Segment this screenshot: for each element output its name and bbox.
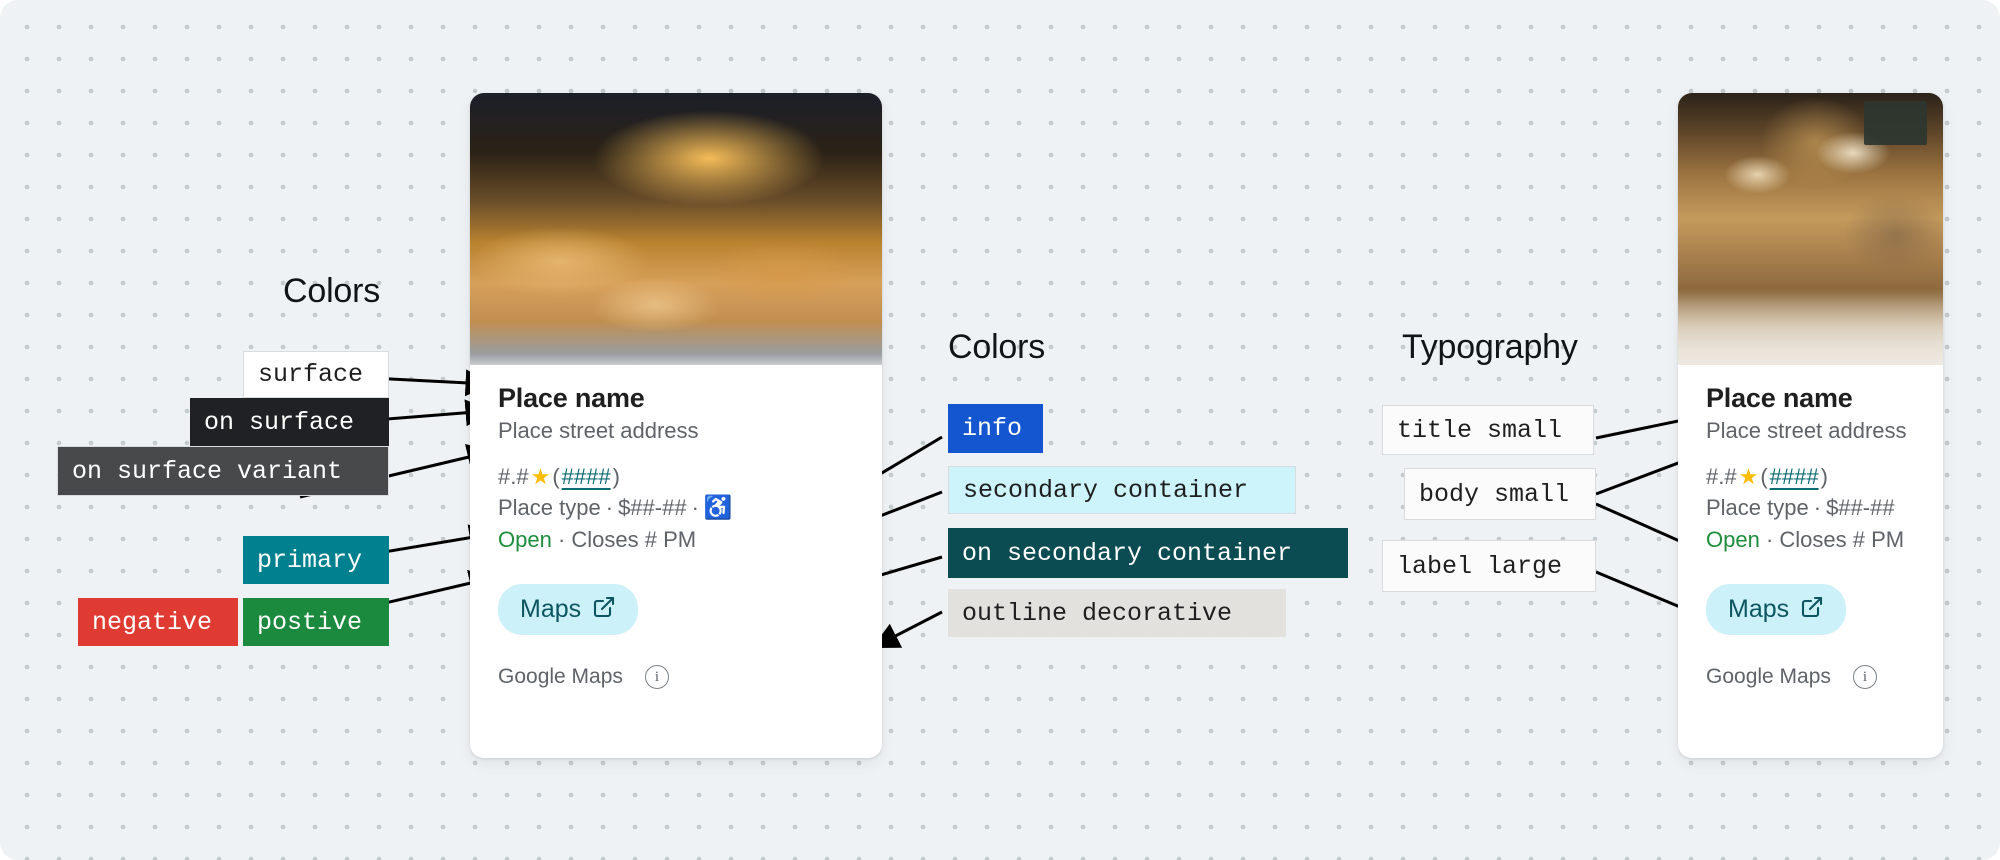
- closing-time-label: Closes # PM: [1779, 527, 1904, 552]
- meta-separator-1: ·: [1814, 493, 1821, 524]
- color-chip-label: negative: [92, 610, 212, 635]
- place-card-primary[interactable]: Place name Place street address #.# ★ ( …: [470, 93, 882, 758]
- reviews-open-paren: (: [552, 462, 559, 493]
- maps-button[interactable]: Maps: [1706, 584, 1846, 635]
- place-hours-row: Open · Closes # PM: [498, 525, 854, 556]
- place-card-body: Place name Place street address #.# ★ ( …: [470, 365, 882, 635]
- color-chip-positive[interactable]: postive: [243, 598, 389, 646]
- color-chip-outline-decorative[interactable]: outline decorative: [948, 589, 1286, 637]
- reviews-close-paren: ): [613, 462, 620, 493]
- price-range: $##-##: [1826, 493, 1895, 524]
- reviews-close-paren: ): [1821, 462, 1828, 493]
- place-name: Place name: [498, 383, 854, 414]
- star-icon: ★: [531, 466, 551, 488]
- color-chip-label: secondary container: [963, 478, 1248, 503]
- reviews-count-link[interactable]: ####: [1770, 462, 1819, 493]
- place-type: Place type: [1706, 493, 1809, 524]
- open-in-new-icon: [592, 595, 616, 624]
- arrow-outline-decorative: [876, 612, 942, 646]
- color-chip-primary[interactable]: primary: [243, 536, 389, 584]
- color-chip-on-surface[interactable]: on surface: [190, 398, 389, 446]
- maps-button[interactable]: Maps: [498, 584, 638, 635]
- color-chip-label: outline decorative: [962, 601, 1232, 626]
- google-maps-attribution: Google Maps: [498, 665, 623, 689]
- color-chip-label: info: [962, 416, 1022, 441]
- color-chip-surface[interactable]: surface: [243, 351, 389, 398]
- section-title-colors-mid: Colors: [948, 328, 1045, 367]
- type-chip-body-small[interactable]: body small: [1404, 468, 1596, 520]
- design-spec-canvas: Colors surface on surface on surface var…: [0, 0, 2000, 860]
- hours-separator: ·: [558, 527, 565, 552]
- place-card-typography[interactable]: Place name Place street address #.# ★ ( …: [1678, 93, 1943, 758]
- star-icon: ★: [1739, 466, 1759, 488]
- color-chip-negative[interactable]: negative: [78, 598, 238, 646]
- place-card-footer: Google Maps i: [470, 635, 882, 711]
- place-hours-row: Open · Closes # PM: [1706, 525, 1915, 556]
- price-range: $##-##: [618, 493, 687, 524]
- place-meta-row: Place type · $##-## · ♿: [498, 493, 854, 524]
- rating-value: #.#: [498, 462, 529, 493]
- open-status-label: Open: [498, 527, 552, 552]
- wheelchair-icon: ♿: [704, 496, 733, 519]
- maps-button-label: Maps: [1728, 597, 1789, 622]
- rating-value: #.#: [1706, 462, 1737, 493]
- color-chip-label: on secondary container: [962, 541, 1292, 566]
- place-meta-row: Place type · $##-##: [1706, 493, 1915, 524]
- meta-separator-2: ·: [692, 493, 699, 524]
- section-title-colors-left: Colors: [283, 272, 380, 311]
- color-chip-secondary-container[interactable]: secondary container: [948, 466, 1296, 514]
- photo-sign-overlay: [1864, 101, 1928, 145]
- place-address: Place street address: [1706, 416, 1915, 446]
- maps-button-label: Maps: [520, 597, 581, 622]
- reviews-open-paren: (: [1760, 462, 1767, 493]
- type-chip-label: body small: [1419, 482, 1569, 507]
- color-chip-label: primary: [257, 548, 362, 573]
- section-title-typography: Typography: [1402, 328, 1578, 367]
- color-chip-label: postive: [257, 610, 362, 635]
- place-address: Place street address: [498, 416, 854, 446]
- type-chip-title-small[interactable]: title small: [1382, 405, 1594, 455]
- place-photo: [1678, 93, 1943, 365]
- photo-counter-overlay: [1678, 294, 1943, 365]
- place-type: Place type: [498, 493, 601, 524]
- color-chip-label: surface: [258, 362, 363, 387]
- place-name: Place name: [1706, 383, 1915, 414]
- open-in-new-icon: [1800, 595, 1824, 624]
- place-photo: [470, 93, 882, 365]
- hours-separator: ·: [1766, 527, 1773, 552]
- place-card-body: Place name Place street address #.# ★ ( …: [1678, 365, 1943, 635]
- type-chip-label-large[interactable]: label large: [1382, 540, 1596, 592]
- color-chip-label: on surface: [204, 410, 354, 435]
- place-rating-row: #.# ★ ( #### ): [498, 462, 854, 493]
- place-rating-row: #.# ★ ( #### ): [1706, 462, 1915, 493]
- info-icon[interactable]: i: [645, 665, 669, 689]
- type-chip-label: label large: [1397, 554, 1562, 579]
- info-icon[interactable]: i: [1853, 665, 1877, 689]
- color-chip-on-surface-variant[interactable]: on surface variant: [57, 446, 389, 496]
- color-chip-info[interactable]: info: [948, 404, 1043, 453]
- color-chip-label: on surface variant: [72, 459, 342, 484]
- open-status-label: Open: [1706, 527, 1760, 552]
- google-maps-attribution: Google Maps: [1706, 665, 1831, 689]
- closing-time-label: Closes # PM: [571, 527, 696, 552]
- place-card-footer: Google Maps i: [1678, 635, 1943, 711]
- meta-separator-1: ·: [606, 493, 613, 524]
- color-chip-on-secondary-container[interactable]: on secondary container: [948, 528, 1348, 578]
- type-chip-label: title small: [1397, 418, 1562, 443]
- reviews-count-link[interactable]: ####: [562, 462, 611, 493]
